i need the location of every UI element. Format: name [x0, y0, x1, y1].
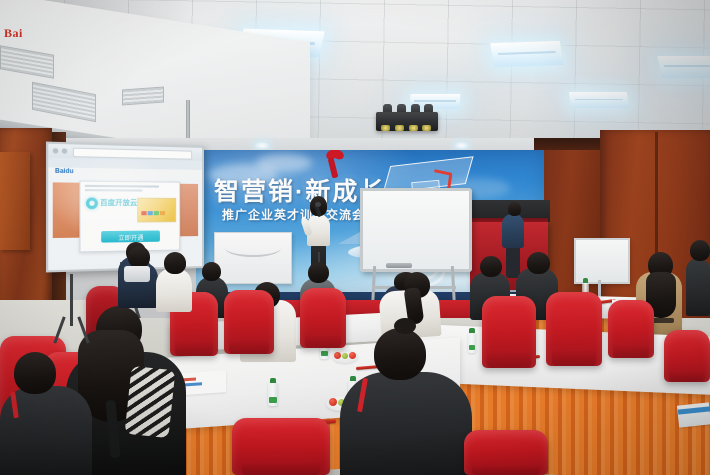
air-vent-icon	[122, 87, 164, 106]
speaker-stand-pole	[70, 274, 73, 326]
flipchart-right	[574, 238, 630, 284]
chair	[464, 430, 548, 475]
ribbon-tail	[328, 158, 339, 179]
chair	[608, 300, 654, 358]
podium-person-body	[502, 214, 524, 248]
attendee-print-graphic	[124, 266, 150, 282]
attendee-body	[686, 258, 710, 316]
whiteboard	[360, 188, 472, 272]
chair	[482, 296, 536, 368]
water-bottle	[268, 382, 278, 406]
attendee-body	[340, 372, 472, 475]
chair	[546, 292, 602, 366]
chair	[664, 330, 710, 382]
water-bottle	[468, 332, 476, 353]
chair	[300, 288, 346, 348]
fruit-green	[342, 353, 348, 359]
cloud-graphic	[256, 154, 312, 172]
flipchart-curve-graphic	[225, 239, 281, 257]
attendee-head	[164, 252, 186, 274]
podium-person-legs	[506, 246, 520, 278]
bottle-cap	[469, 328, 474, 333]
bottle-cap	[583, 278, 587, 283]
bottle-cap	[270, 378, 276, 383]
bottle-cap	[350, 376, 356, 381]
wood-panel-accent	[0, 152, 30, 250]
attendee-head	[374, 328, 426, 380]
stage-light-lens	[422, 125, 431, 131]
attendee-patterned-sleeve	[125, 366, 176, 438]
baidu-logo-text: Bai	[4, 26, 74, 41]
whiteboard-marker-tray	[386, 263, 412, 268]
ceiling	[0, 0, 710, 150]
stage-light-lens	[395, 125, 404, 131]
fruit-red	[349, 352, 356, 359]
fruit-red	[329, 398, 337, 406]
attendee-head	[308, 262, 329, 283]
downlight-icon	[255, 142, 269, 149]
podium-person-hair	[508, 202, 521, 216]
red-ribbon-bow-left	[326, 150, 344, 180]
fruit-red	[334, 352, 341, 359]
chair	[232, 418, 330, 475]
attendee-hair-bun	[394, 318, 416, 334]
stage-light-lens	[409, 125, 418, 131]
attendee-head	[690, 240, 710, 261]
airplane-tail	[338, 232, 360, 244]
attendee-head	[14, 352, 56, 394]
branded-flipchart	[214, 232, 292, 284]
stage-light-bar	[376, 112, 438, 131]
chair	[224, 290, 274, 354]
attendee-head	[480, 256, 502, 277]
conference-room-photo: 智营销·新成长 推广企业英才训练交流会 Baidu 百度	[0, 0, 710, 475]
fruit-plate	[332, 350, 358, 363]
attendee-body	[156, 268, 192, 312]
attendee-head	[527, 252, 550, 274]
microphone-head-icon	[315, 202, 321, 207]
downlight-icon	[455, 142, 468, 149]
attendee-head	[202, 262, 221, 281]
stage-light-lens	[381, 125, 390, 131]
attendee-head	[128, 246, 150, 268]
